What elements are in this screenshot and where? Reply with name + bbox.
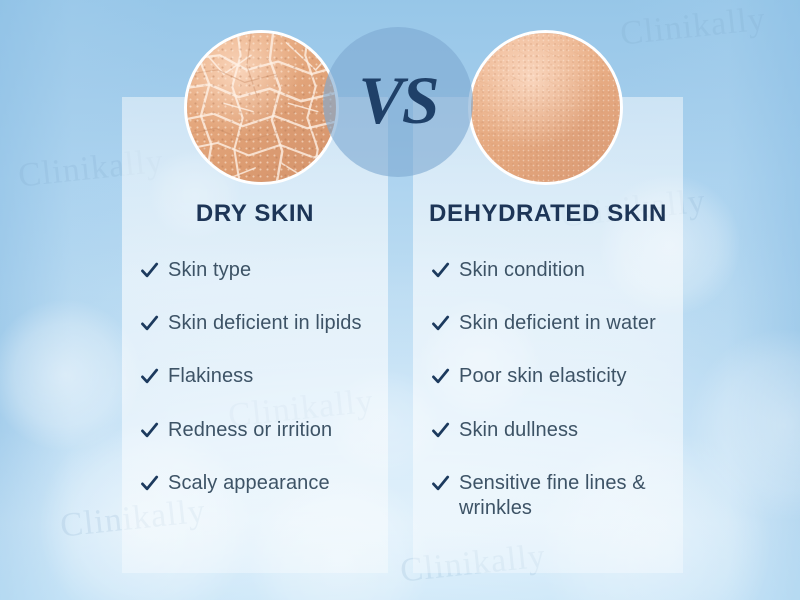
list-item: Redness or irrition xyxy=(140,418,388,443)
list-item-label: Poor skin elasticity xyxy=(459,364,627,389)
list-item: Skin deficient in water xyxy=(431,311,683,336)
list-item-label: Scaly appearance xyxy=(168,471,330,496)
list-item: Skin dullness xyxy=(431,418,683,443)
dehydrated-skin-photo xyxy=(468,30,623,185)
list-item-label: Skin deficient in lipids xyxy=(168,311,362,336)
check-icon xyxy=(431,261,450,283)
vs-label: VS xyxy=(358,66,437,134)
list-item: Flakiness xyxy=(140,364,388,389)
dry-skin-photo xyxy=(184,30,339,185)
column-dehydrated-skin: DEHYDRATED SKIN Skin condition Skin defi… xyxy=(413,200,683,228)
list-item: Skin deficient in lipids xyxy=(140,311,388,336)
check-icon xyxy=(140,474,159,496)
dry-skin-speckle xyxy=(187,33,336,182)
list-item: Scaly appearance xyxy=(140,471,388,496)
check-icon xyxy=(140,314,159,336)
check-icon xyxy=(140,261,159,283)
list-item: Skin type xyxy=(140,258,388,283)
check-icon xyxy=(140,367,159,389)
list-item: Skin condition xyxy=(431,258,683,283)
feature-list-dehydrated: Skin condition Skin deficient in water P… xyxy=(413,258,683,521)
feature-list-dry: Skin type Skin deficient in lipids Flaki… xyxy=(122,258,388,496)
list-item-label: Sensitive fine lines & wrinkles xyxy=(459,471,669,521)
list-item-label: Skin dullness xyxy=(459,418,578,443)
list-item-label: Skin type xyxy=(168,258,251,283)
list-item-label: Flakiness xyxy=(168,364,253,389)
check-icon xyxy=(140,421,159,443)
list-item: Sensitive fine lines & wrinkles xyxy=(431,471,683,521)
infographic-canvas: Clinikally Clinikally Clinikally Clinika… xyxy=(0,0,800,600)
check-icon xyxy=(431,474,450,496)
column-title-dehydrated: DEHYDRATED SKIN xyxy=(413,200,683,228)
check-icon xyxy=(431,367,450,389)
vs-badge: VS xyxy=(323,27,473,177)
list-item: Poor skin elasticity xyxy=(431,364,683,389)
list-item-label: Redness or irrition xyxy=(168,418,332,443)
list-item-label: Skin condition xyxy=(459,258,585,283)
column-dry-skin: DRY SKIN Skin type Skin deficient in lip… xyxy=(122,200,388,228)
dehydrated-skin-grain xyxy=(471,33,620,182)
check-icon xyxy=(431,421,450,443)
check-icon xyxy=(431,314,450,336)
column-title-dry: DRY SKIN xyxy=(122,200,388,228)
list-item-label: Skin deficient in water xyxy=(459,311,656,336)
